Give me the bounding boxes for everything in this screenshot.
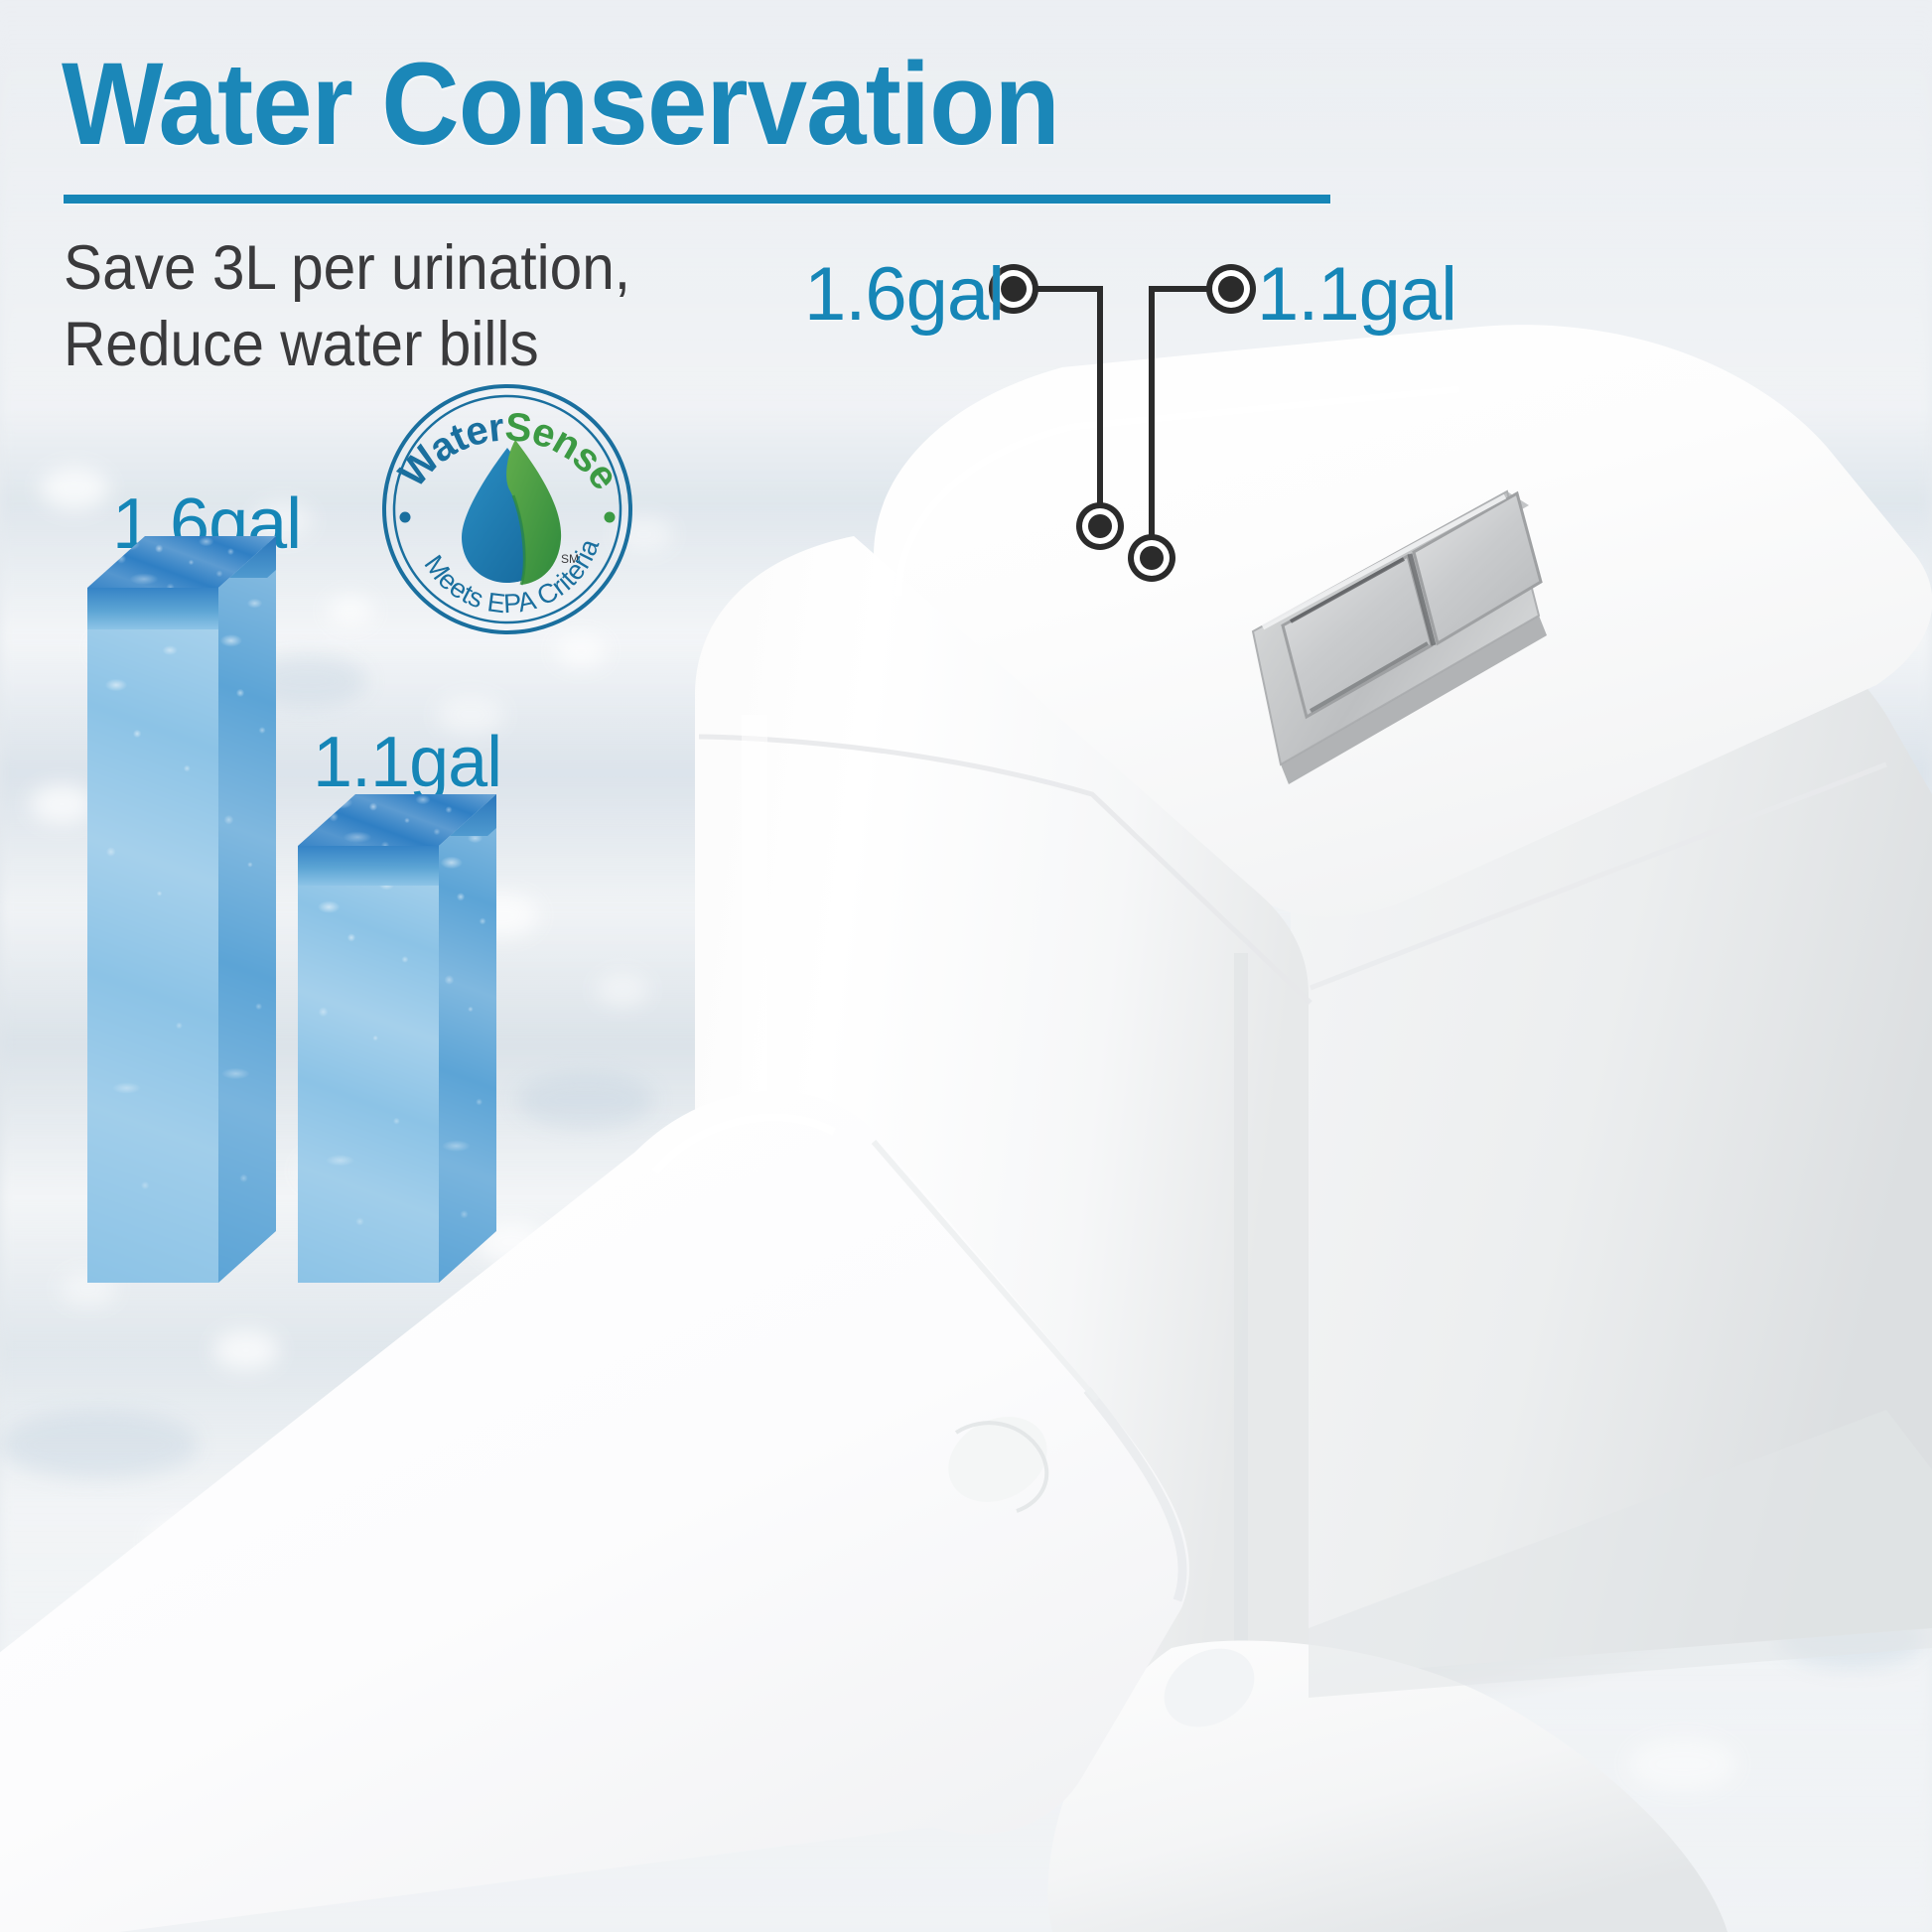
bar-prism-small-side — [439, 794, 496, 1283]
flush-button-marker-full — [1076, 502, 1124, 550]
badge-dot-left — [400, 512, 411, 523]
bar-prism-large-side — [218, 536, 276, 1283]
callout-label-half-flush: 1.1gal — [1257, 251, 1456, 338]
badge-dot-right — [605, 512, 616, 523]
bar-prism-small — [298, 794, 546, 1291]
bar-label-small: 1.1gal — [313, 722, 501, 803]
callout-label-full-flush: 1.6gal — [804, 251, 1004, 338]
infographic-stage: Water Conservation Save 3L per urination… — [0, 0, 1932, 1932]
flush-button-marker-half — [1128, 534, 1175, 582]
watersense-badge: SM WaterSense Meets EPA Criteria — [376, 378, 638, 640]
bar-prism-large-front — [87, 588, 218, 1283]
callout-marker-half-flush — [1206, 264, 1256, 314]
bar-prism-small-front — [298, 846, 439, 1283]
